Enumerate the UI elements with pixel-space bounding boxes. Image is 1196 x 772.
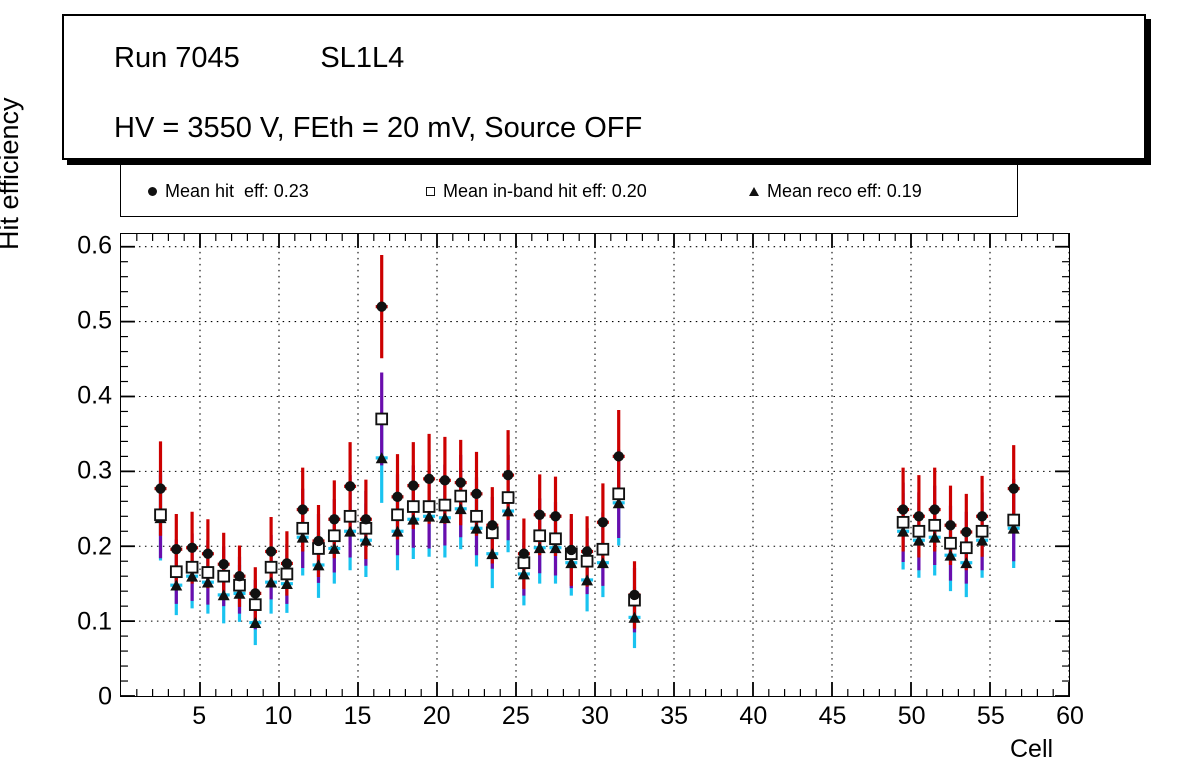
marker-in-band-hit-eff	[961, 542, 972, 553]
marker-in-band-hit-eff	[297, 523, 308, 534]
marker-hit-eff	[298, 504, 308, 514]
marker-in-band-hit-eff	[329, 530, 340, 541]
marker-hit-eff	[266, 546, 276, 556]
marker-in-band-hit-eff	[266, 562, 277, 573]
marker-hit-eff	[598, 517, 608, 527]
filled-triangle-icon-glyph	[749, 187, 759, 196]
data-layer	[121, 234, 1069, 696]
marker-hit-eff	[914, 511, 924, 521]
marker-in-band-hit-eff	[898, 517, 909, 528]
marker-hit-eff	[329, 514, 339, 524]
y-tick-label: 0.5	[77, 306, 112, 335]
marker-hit-eff	[503, 470, 513, 480]
marker-hit-eff	[313, 536, 323, 546]
marker-in-band-hit-eff	[455, 491, 466, 502]
marker-in-band-hit-eff	[234, 580, 245, 591]
y-axis-title: Hit efficiency	[0, 0, 25, 250]
marker-hit-eff	[471, 489, 481, 499]
marker-in-band-hit-eff	[550, 533, 561, 544]
legend-entry-2: Mean reco eff: 0.19	[741, 165, 922, 218]
marker-in-band-hit-eff	[598, 544, 609, 555]
y-tick-label: 0.1	[77, 607, 112, 636]
title-box: Run 7045 SL1L4 HV = 3550 V, FEth = 20 mV…	[62, 14, 1146, 160]
marker-hit-eff	[392, 492, 402, 502]
x-tick-label: 50	[898, 702, 926, 731]
marker-hit-eff	[361, 514, 371, 524]
marker-in-band-hit-eff	[534, 530, 545, 541]
plot-frame	[120, 233, 1070, 697]
x-tick-label: 45	[819, 702, 847, 731]
open-square-icon	[417, 165, 443, 218]
marker-in-band-hit-eff	[471, 511, 482, 522]
marker-in-band-hit-eff	[171, 566, 182, 577]
marker-in-band-hit-eff	[392, 509, 403, 520]
marker-in-band-hit-eff	[582, 556, 593, 567]
y-tick-label: 0	[98, 683, 112, 712]
marker-hit-eff	[155, 483, 165, 493]
y-tick-label: 0.2	[77, 532, 112, 561]
title-run-line: Run 7045 SL1L4	[114, 42, 404, 75]
marker-in-band-hit-eff	[345, 511, 356, 522]
legend-entry-label: Mean reco eff: 0.19	[767, 181, 922, 202]
marker-hit-eff	[203, 549, 213, 559]
marker-in-band-hit-eff	[613, 488, 624, 499]
marker-hit-eff	[408, 480, 418, 490]
marker-in-band-hit-eff	[914, 526, 925, 537]
x-tick-label: 20	[423, 702, 451, 731]
marker-in-band-hit-eff	[977, 526, 988, 537]
marker-hit-eff	[1009, 483, 1019, 493]
y-tick-label: 0.3	[77, 457, 112, 486]
marker-in-band-hit-eff	[1008, 515, 1019, 526]
filled-circle-icon-glyph	[148, 187, 157, 196]
x-tick-label: 10	[264, 702, 292, 731]
marker-hit-eff	[234, 571, 244, 581]
marker-in-band-hit-eff	[250, 599, 261, 610]
marker-hit-eff	[424, 474, 434, 484]
marker-in-band-hit-eff	[282, 569, 293, 580]
marker-in-band-hit-eff	[945, 538, 956, 549]
marker-hit-eff	[219, 559, 229, 569]
marker-in-band-hit-eff	[187, 562, 198, 573]
y-axis-tick-labels: 00.10.20.30.40.50.6	[46, 233, 112, 697]
x-tick-label: 55	[977, 702, 1005, 731]
legend-entry-label: Mean in-band hit eff: 0.20	[443, 181, 647, 202]
marker-in-band-hit-eff	[929, 520, 940, 531]
marker-hit-eff	[250, 588, 260, 598]
marker-hit-eff	[961, 527, 971, 537]
marker-in-band-hit-eff	[440, 500, 451, 511]
marker-hit-eff	[440, 475, 450, 485]
plot-page: Run 7045 SL1L4 HV = 3550 V, FEth = 20 mV…	[0, 0, 1196, 772]
legend-entry-1: Mean in-band hit eff: 0.20	[417, 165, 647, 218]
x-tick-label: 60	[1056, 702, 1084, 731]
x-tick-label: 15	[344, 702, 372, 731]
marker-hit-eff	[535, 510, 545, 520]
filled-circle-icon	[139, 165, 165, 218]
title-settings-line: HV = 3550 V, FEth = 20 mV, Source OFF	[114, 112, 642, 145]
x-tick-label: 40	[739, 702, 767, 731]
marker-in-band-hit-eff	[155, 509, 166, 520]
marker-hit-eff	[566, 545, 576, 555]
marker-hit-eff	[487, 520, 497, 530]
marker-hit-eff	[945, 520, 955, 530]
open-square-icon-glyph	[426, 187, 435, 196]
marker-hit-eff	[519, 549, 529, 559]
marker-hit-eff	[898, 504, 908, 514]
marker-hit-eff	[977, 511, 987, 521]
marker-hit-eff	[629, 590, 639, 600]
x-tick-label: 30	[581, 702, 609, 731]
marker-hit-eff	[930, 504, 940, 514]
y-tick-label: 0.4	[77, 382, 112, 411]
filled-triangle-icon	[741, 165, 767, 218]
marker-in-band-hit-eff	[503, 492, 514, 503]
legend-entry-label: Mean hit eff: 0.23	[165, 181, 309, 202]
marker-hit-eff	[345, 481, 355, 491]
x-axis-title: Cell	[1010, 735, 1053, 764]
x-tick-label: 25	[502, 702, 530, 731]
marker-in-band-hit-eff	[361, 523, 372, 534]
marker-hit-eff	[377, 301, 387, 311]
marker-in-band-hit-eff	[424, 501, 435, 512]
x-tick-label: 35	[660, 702, 688, 731]
marker-hit-eff	[456, 477, 466, 487]
marker-in-band-hit-eff	[203, 567, 214, 578]
x-axis-tick-labels: 51015202530354045505560	[120, 702, 1070, 734]
legend: Mean hit eff: 0.23Mean in-band hit eff: …	[120, 164, 1018, 217]
legend-entry-0: Mean hit eff: 0.23	[139, 165, 309, 218]
marker-hit-eff	[282, 558, 292, 568]
marker-hit-eff	[614, 451, 624, 461]
marker-in-band-hit-eff	[408, 501, 419, 512]
marker-hit-eff	[550, 511, 560, 521]
marker-in-band-hit-eff	[376, 414, 387, 425]
marker-hit-eff	[187, 543, 197, 553]
y-tick-label: 0.6	[77, 231, 112, 260]
marker-in-band-hit-eff	[218, 571, 229, 582]
marker-hit-eff	[171, 544, 181, 554]
marker-in-band-hit-eff	[519, 557, 530, 568]
marker-hit-eff	[582, 546, 592, 556]
x-tick-label: 5	[192, 702, 206, 731]
